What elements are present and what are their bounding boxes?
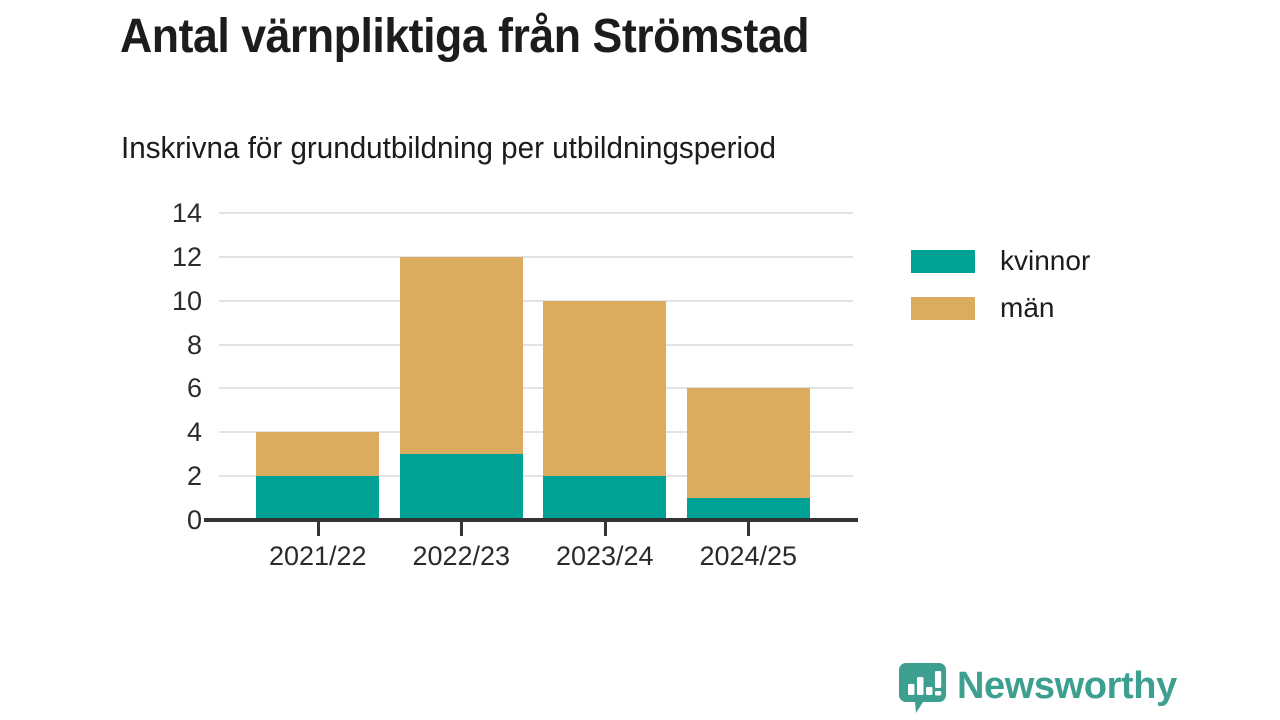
bar-segment-kvinnor[interactable]	[400, 454, 523, 520]
x-axis-line	[204, 518, 858, 522]
bar-segment-män[interactable]	[400, 257, 523, 454]
legend-label: män	[1000, 290, 1054, 326]
brand-name: Newsworthy	[957, 663, 1177, 709]
y-axis-tick-label: 4	[112, 419, 202, 446]
bar-segment-kvinnor[interactable]	[256, 476, 379, 520]
bar-stack-2021-22[interactable]	[256, 213, 379, 520]
y-axis-tick-label: 12	[112, 244, 202, 271]
y-axis-tick-label: 2	[112, 463, 202, 490]
x-axis-tick-mark	[747, 522, 750, 536]
speech-bubble-bar-chart-icon	[899, 663, 946, 713]
bar-segment-kvinnor[interactable]	[687, 498, 810, 520]
y-axis-tick-label: 6	[112, 375, 202, 402]
bar-segment-män[interactable]	[256, 432, 379, 476]
legend-swatch-icon	[911, 250, 975, 273]
bar-stack-2022-23[interactable]	[400, 213, 523, 520]
x-axis-tick-label: 2024/25	[663, 539, 833, 573]
bar-segment-kvinnor[interactable]	[543, 476, 666, 520]
bar-segment-män[interactable]	[543, 301, 666, 476]
y-axis-tick-label: 0	[112, 507, 202, 534]
bar-stack-2023-24[interactable]	[543, 213, 666, 520]
bar-segment-män[interactable]	[687, 388, 810, 498]
bar-stack-2024-25[interactable]	[687, 213, 810, 520]
y-axis-tick-label: 14	[112, 200, 202, 227]
legend-swatch-icon	[911, 297, 975, 320]
legend-label: kvinnor	[1000, 243, 1090, 279]
chart-page: Antal värnpliktiga från Strömstad Inskri…	[0, 0, 1280, 720]
y-axis-tick-label: 10	[112, 288, 202, 315]
y-axis-tick-label: 8	[112, 332, 202, 359]
x-axis-tick-mark	[317, 522, 320, 536]
x-axis-tick-mark	[604, 522, 607, 536]
bar-chart-plot: 02468101214 2021/222022/232023/242024/25	[0, 0, 1280, 720]
x-axis-tick-mark	[460, 522, 463, 536]
